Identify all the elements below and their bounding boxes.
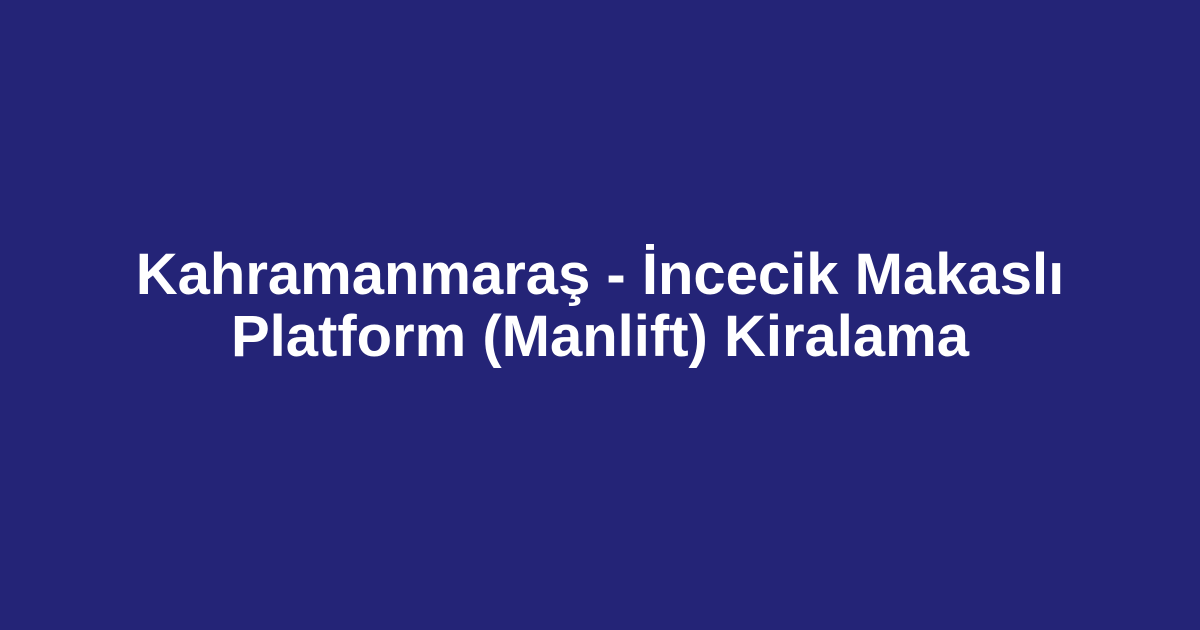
og-banner-card: Kahramanmaraş - İncecik Makaslı Platform… [0,0,1200,630]
page-title: Kahramanmaraş - İncecik Makaslı Platform… [100,244,1100,368]
title-block: Kahramanmaraş - İncecik Makaslı Platform… [100,244,1100,368]
